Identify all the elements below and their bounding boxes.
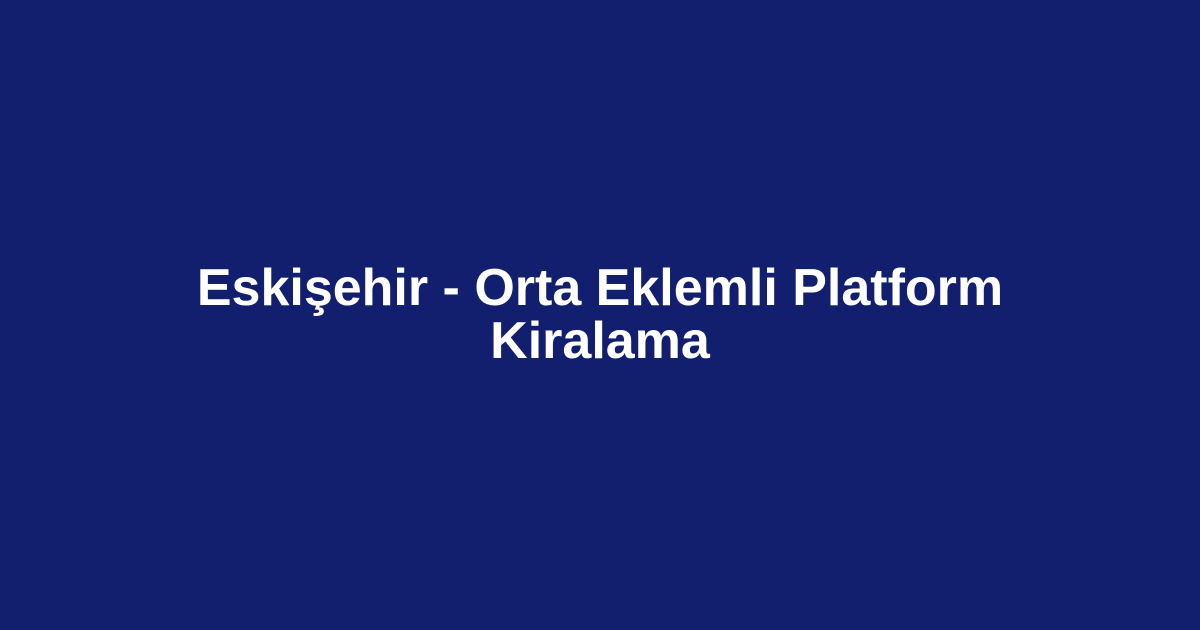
share-banner-card: Eskişehir - Orta Eklemli Platform Kirala… [0, 0, 1200, 630]
banner-title: Eskişehir - Orta Eklemli Platform Kirala… [0, 262, 1200, 368]
